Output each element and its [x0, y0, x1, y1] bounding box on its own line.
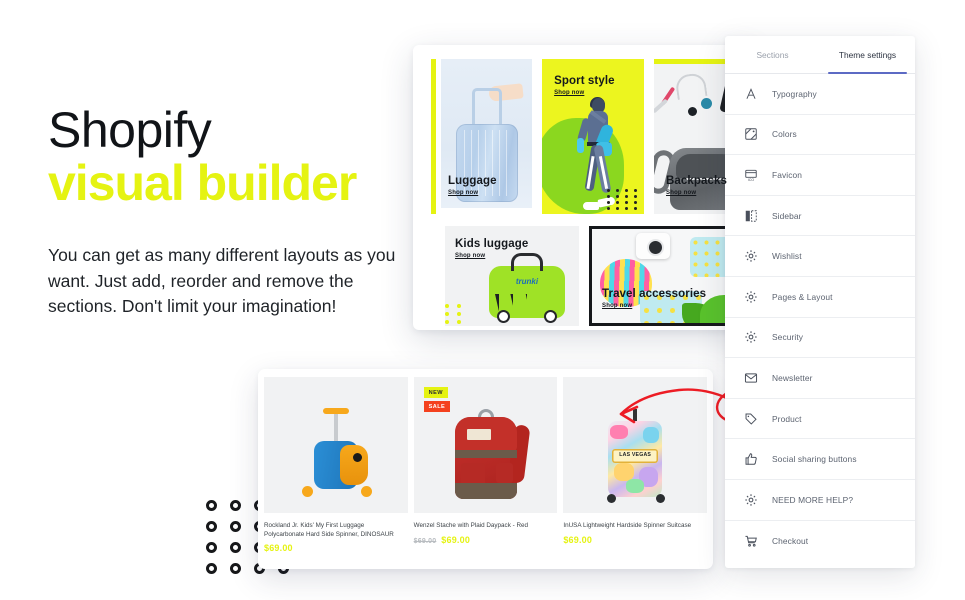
sidebar-icon: [743, 208, 758, 223]
tile-label: Backpacks Shop now: [666, 175, 727, 196]
badge-new: NEW: [424, 387, 448, 398]
product-card[interactable]: LAS VEGAS InUSA Lightweight Hardside Spi…: [563, 377, 707, 569]
hero-title-line1: Shopify: [48, 104, 408, 156]
product-thumbnail: NEW SALE: [414, 377, 558, 513]
tile-label-text: Backpacks: [666, 175, 727, 187]
theme-settings-panel: Sections Theme settings Typography Color…: [725, 36, 915, 568]
menu-item-label: Checkout: [772, 536, 808, 546]
menu-item-label: Social sharing buttons: [772, 454, 857, 464]
menu-item-label: NEED MORE HELP?: [772, 495, 853, 505]
product-card[interactable]: NEW SALE Wenzel Stache with Plaid Daypac…: [414, 377, 558, 569]
product-title: Rockland Jr. Kids' My First Luggage Poly…: [264, 522, 408, 539]
product-thumbnail: LAS VEGAS: [563, 377, 707, 513]
dot-grid-decoration: [445, 304, 465, 324]
trunki-logo: trunki: [516, 277, 538, 286]
suitcase-sign-text: LAS VEGAS: [608, 452, 662, 458]
product-price: $69.00$69.00: [414, 535, 558, 545]
hero-copy: Shopify visual builder You can get as ma…: [48, 104, 408, 320]
accessory-dot-graphic: [701, 98, 712, 109]
menu-item-label: Wishlist: [772, 251, 802, 261]
product-card-strip: Rockland Jr. Kids' My First Luggage Poly…: [258, 369, 713, 569]
tile-label-text: Sport style: [554, 75, 615, 87]
kids-suitcase-graphic: trunki: [489, 266, 565, 318]
favicon-icon: ICO: [743, 167, 758, 182]
svg-text:ICO: ICO: [747, 178, 754, 182]
hero-collage-card: Luggage Shop now Sport style Shop now: [413, 45, 753, 330]
product-title: InUSA Lightweight Hardside Spinner Suitc…: [563, 522, 707, 531]
product-price: $69.00: [563, 535, 707, 545]
handle-graphic: [334, 413, 338, 443]
menu-item-pages-layout[interactable]: Pages & Layout: [725, 277, 915, 318]
settings-menu: Typography Colors ICO Favicon: [725, 74, 915, 561]
tile-label: Luggage Shop now: [448, 175, 497, 196]
collage-row-top: Luggage Shop now Sport style Shop now: [431, 59, 753, 214]
panel-tabs: Sections Theme settings: [725, 36, 915, 74]
gear-icon: [743, 289, 758, 304]
menu-item-typography[interactable]: Typography: [725, 74, 915, 115]
product-title: Wenzel Stache with Plaid Daypack - Red: [414, 522, 558, 531]
collage-tile-kids-luggage[interactable]: Kids luggage Shop now trunki: [445, 226, 579, 326]
product-sale-price: $69.00: [441, 535, 470, 545]
tile-label: Sport style Shop now: [554, 75, 615, 96]
tag-icon: [743, 411, 758, 426]
hero-subtitle: You can get as many different layouts as…: [48, 243, 408, 320]
menu-item-label: Product: [772, 414, 802, 424]
menu-item-sidebar[interactable]: Sidebar: [725, 196, 915, 237]
menu-item-wishlist[interactable]: Wishlist: [725, 236, 915, 277]
accessory-dot-graphic: [688, 107, 697, 116]
menu-item-label: Sidebar: [772, 211, 802, 221]
tile-label: Travel accessories Shop now: [602, 288, 706, 309]
tile-label-text: Travel accessories: [602, 288, 706, 300]
collage-row-bottom: Kids luggage Shop now trunki Travel: [445, 226, 753, 326]
cart-icon: [743, 533, 758, 548]
menu-item-product[interactable]: Product: [725, 399, 915, 440]
menu-item-newsletter[interactable]: Newsletter: [725, 358, 915, 399]
menu-item-label: Typography: [772, 89, 817, 99]
menu-item-need-more-help[interactable]: NEED MORE HELP?: [725, 480, 915, 521]
product-price: $69.00: [264, 543, 408, 553]
gear-icon: [743, 249, 758, 264]
shop-now-link[interactable]: Shop now: [666, 190, 727, 196]
shop-now-link[interactable]: Shop now: [448, 190, 497, 196]
menu-item-label: Pages & Layout: [772, 292, 833, 302]
thumbs-up-icon: [743, 452, 758, 467]
camera-graphic: [636, 233, 670, 259]
product-card[interactable]: Rockland Jr. Kids' My First Luggage Poly…: [264, 377, 408, 569]
las-vegas-suitcase-graphic: LAS VEGAS: [608, 421, 662, 497]
tab-sections[interactable]: Sections: [725, 36, 820, 73]
handle-graphic: [633, 409, 637, 421]
shop-now-link[interactable]: Shop now: [455, 253, 528, 259]
menu-item-security[interactable]: Security: [725, 318, 915, 359]
dot-grid-decoration: [607, 189, 640, 210]
menu-item-favicon[interactable]: ICO Favicon: [725, 155, 915, 196]
product-thumbnail: [264, 377, 408, 513]
colors-icon: [743, 127, 758, 142]
menu-item-label: Favicon: [772, 170, 802, 180]
collage-tile-travel-accessories[interactable]: Travel accessories Shop now: [589, 226, 745, 326]
brush-graphic: [654, 98, 668, 113]
gear-icon: [743, 330, 758, 345]
red-backpack-graphic: [455, 417, 517, 499]
kids-dino-suitcase-graphic: [314, 441, 358, 489]
menu-item-checkout[interactable]: Checkout: [725, 521, 915, 562]
menu-item-label: Colors: [772, 129, 797, 139]
headphones-graphic: [674, 72, 707, 100]
tile-label-text: Kids luggage: [455, 238, 528, 250]
collage-tile-luggage[interactable]: Luggage Shop now: [431, 59, 532, 214]
badge-sale: SALE: [424, 401, 451, 412]
collage-tile-sport-style[interactable]: Sport style Shop now: [542, 59, 644, 214]
tile-label: Kids luggage Shop now: [455, 238, 528, 259]
shop-now-link[interactable]: Shop now: [602, 303, 706, 309]
envelope-icon: [743, 370, 758, 385]
menu-item-social-sharing-buttons[interactable]: Social sharing buttons: [725, 439, 915, 480]
suitcase-handle-graphic: [472, 88, 502, 128]
shop-now-link[interactable]: Shop now: [554, 90, 615, 96]
typography-icon: [743, 86, 758, 101]
menu-item-label: Security: [772, 332, 803, 342]
hero-title-line2: visual builder: [48, 156, 408, 210]
menu-item-label: Newsletter: [772, 373, 813, 383]
gear-icon: [743, 492, 758, 507]
tab-theme-settings[interactable]: Theme settings: [820, 36, 915, 73]
menu-item-colors[interactable]: Colors: [725, 115, 915, 156]
tile-label-text: Luggage: [448, 175, 497, 187]
product-old-price: $69.00: [414, 538, 437, 545]
